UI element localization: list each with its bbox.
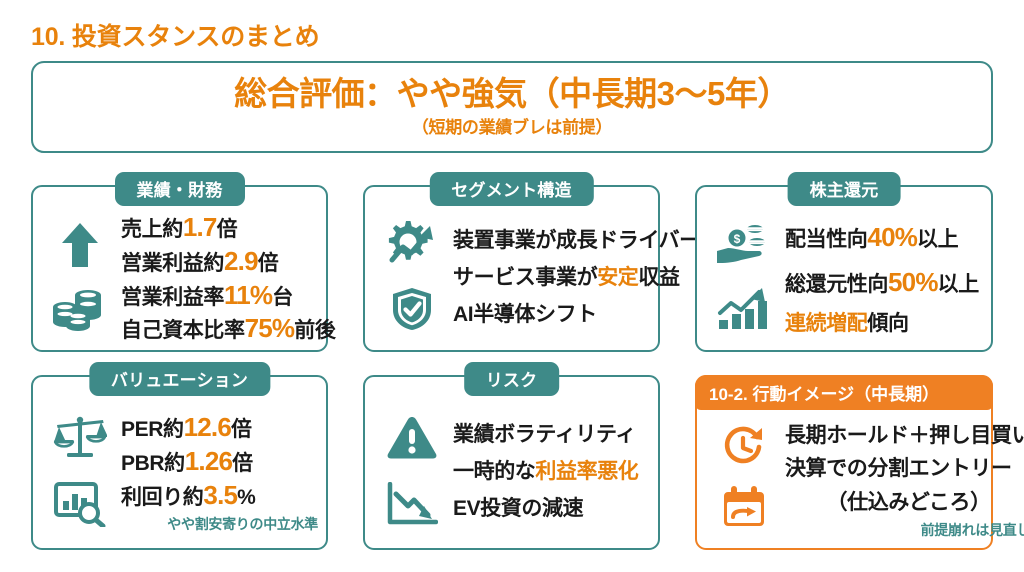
card-risk: リスク xyxy=(363,375,660,550)
card-shareholder-return-title: 株主還元 xyxy=(788,172,901,206)
card-segment-structure-title: セグメント構造 xyxy=(429,172,593,206)
list-item: 配当性向40%以上 xyxy=(785,215,983,261)
overall-verdict-headline: 総合評価：やや強気（中長期3〜5年） xyxy=(234,76,790,112)
list-item: 連続増配傾向 xyxy=(785,306,983,343)
card-financials-lines: 売上約1.7倍 営業利益約2.9倍 営業利益率11%台 自己資本比率75%前後 xyxy=(119,211,335,346)
up-arrow-icon xyxy=(60,221,100,274)
card-valuation-lines: PER約12.6倍 PBR約1.26倍 利回り約3.5% やや割安寄りの中立水準 xyxy=(119,401,318,544)
list-item: 長期ホールド＋押し目買い xyxy=(785,419,1024,453)
card-shareholder-return-body: $ xyxy=(697,207,991,350)
card-valuation-note: やや割安寄りの中立水準 xyxy=(121,514,318,534)
balance-scale-icon xyxy=(53,413,107,466)
card-valuation: バリュエーション xyxy=(31,375,328,550)
card-financials-title: 業績・財務 xyxy=(115,172,245,206)
card-action-plan-body: 長期ホールド＋押し目買い 決算での分割エントリー （仕込みどころ） 前提崩れは見… xyxy=(697,411,991,548)
overall-verdict-box: 総合評価：やや強気（中長期3〜5年） （短期の業績ブレは前提） xyxy=(31,61,993,153)
card-risk-title: リスク xyxy=(464,362,560,396)
svg-text:$: $ xyxy=(734,232,741,246)
list-item: 営業利益約2.9倍 xyxy=(121,245,335,279)
list-item: 総還元性向50%以上 xyxy=(785,260,983,306)
card-shareholder-return: 株主還元 xyxy=(695,185,993,352)
list-item: 決算での分割エントリー xyxy=(785,452,1024,486)
card-action-plan-note: 前提崩れは見直し xyxy=(785,520,1024,540)
list-item: 自己資本比率75%前後 xyxy=(121,312,335,346)
list-item: 営業利益率11%台 xyxy=(121,279,335,313)
card-financials-icons xyxy=(41,211,119,346)
calendar-arrow-icon xyxy=(721,485,767,534)
hand-coins-icon: $ xyxy=(715,222,773,271)
list-item: 一時的な利益率悪化 xyxy=(453,454,650,491)
list-item: 装置事業が成長ドライバー xyxy=(453,223,700,260)
coin-stack-icon xyxy=(52,287,108,336)
clock-refresh-icon xyxy=(721,425,767,474)
overall-verdict-subtext: （短期の業績ブレは前提） xyxy=(412,113,612,138)
page-title: 10. 投資スタンスのまとめ xyxy=(31,17,319,53)
shield-check-icon xyxy=(390,286,434,337)
card-action-plan-title: 10-2. 行動イメージ（中長期） xyxy=(695,375,993,410)
card-valuation-icons xyxy=(41,401,119,544)
list-item: 売上約1.7倍 xyxy=(121,211,335,245)
list-item: （仕込みどころ） xyxy=(785,486,1024,520)
card-financials: 業績・財務 xyxy=(31,185,328,352)
list-item: PBR約1.26倍 xyxy=(121,445,318,479)
summary-card-grid: 業績・財務 xyxy=(31,178,993,550)
list-item: 利回り約3.5% xyxy=(121,479,318,513)
card-valuation-title: バリュエーション xyxy=(89,362,270,396)
card-shareholder-return-lines: 配当性向40%以上 総還元性向50%以上 連続増配傾向 xyxy=(783,211,983,346)
list-item: AI半導体シフト xyxy=(453,297,700,334)
warning-triangle-icon xyxy=(386,414,438,465)
card-segment-structure-lines: 装置事業が成長ドライバー サービス事業が安定収益 AI半導体シフト xyxy=(451,211,700,346)
card-action-plan-icons xyxy=(705,415,783,544)
card-risk-body: 業績ボラティリティ 一時的な利益率悪化 EV投資の減速 xyxy=(365,397,658,548)
gear-trend-icon xyxy=(386,220,438,275)
card-valuation-body: PER約12.6倍 PBR約1.26倍 利回り約3.5% やや割安寄りの中立水準 xyxy=(33,397,326,548)
list-item: 業績ボラティリティ xyxy=(453,417,650,454)
list-item: サービス事業が安定収益 xyxy=(453,260,700,297)
card-action-plan: 10-2. 行動イメージ（中長期） xyxy=(695,375,993,550)
card-risk-icons xyxy=(373,401,451,544)
card-segment-structure-icons xyxy=(373,211,451,346)
bar-chart-up-icon xyxy=(717,286,771,335)
card-financials-body: 売上約1.7倍 営業利益約2.9倍 営業利益率11%台 自己資本比率75%前後 xyxy=(33,207,326,350)
card-segment-structure: セグメント構造 xyxy=(363,185,660,352)
card-shareholder-return-icons: $ xyxy=(705,211,783,346)
list-item: EV投資の減速 xyxy=(453,491,650,528)
chart-down-icon xyxy=(386,482,438,531)
chart-magnifier-icon xyxy=(54,481,106,532)
card-segment-structure-body: 装置事業が成長ドライバー サービス事業が安定収益 AI半導体シフト xyxy=(365,207,658,350)
card-risk-lines: 業績ボラティリティ 一時的な利益率悪化 EV投資の減速 xyxy=(451,401,650,544)
list-item: PER約12.6倍 xyxy=(121,411,318,445)
card-action-plan-lines: 長期ホールド＋押し目買い 決算での分割エントリー （仕込みどころ） 前提崩れは見… xyxy=(783,415,1024,544)
